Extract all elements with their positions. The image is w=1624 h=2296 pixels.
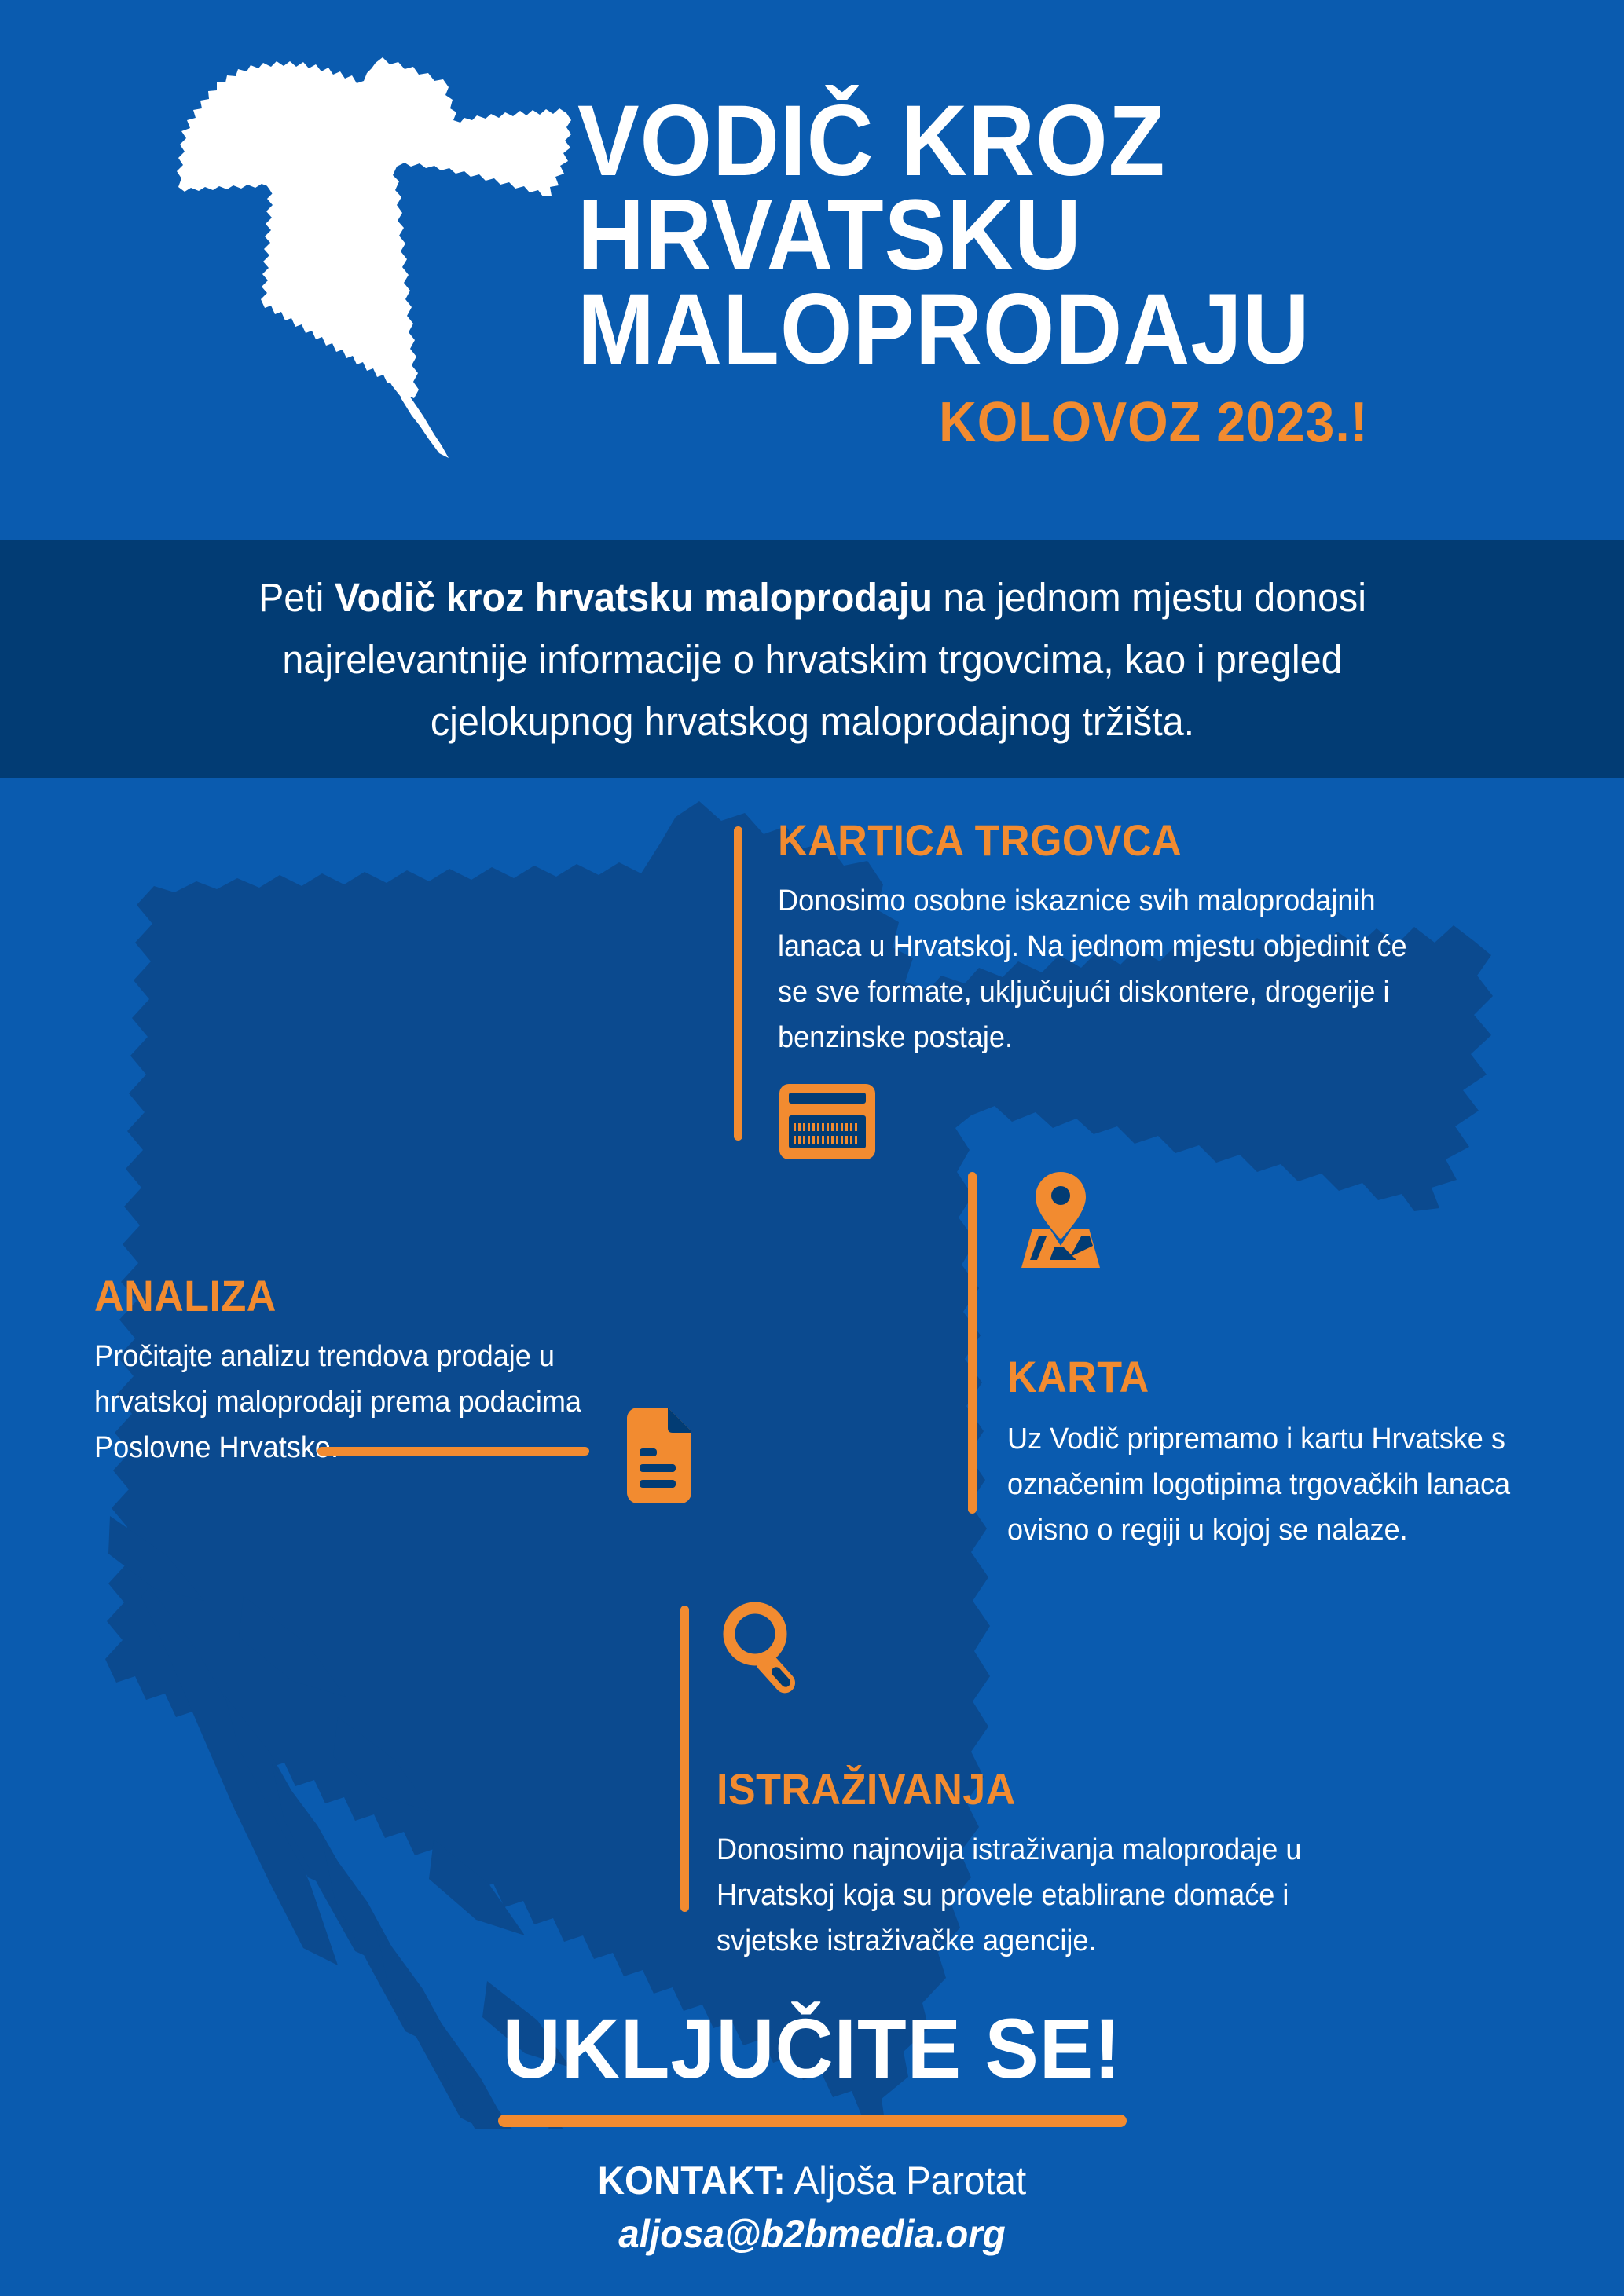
istrazivanja-body: Donosimo najnovija istraživanja maloprod…: [717, 1827, 1388, 1964]
call-to-action-heading: UKLJUČITE SE!: [41, 2003, 1584, 2094]
map-pin-icon: [1015, 1170, 1106, 1273]
infographic-poster: VODIČ KROZ HRVATSKU MALOPRODAJU KOLOVOZ …: [0, 0, 1624, 2296]
section-kartica-trgovca: KARTICA TRGOVCA Donosimo osobne iskaznic…: [778, 817, 1469, 1060]
contact-name: Aljoša Parotat: [786, 2159, 1026, 2203]
title-line-1: VODIČ KROZ: [577, 94, 1488, 189]
analiza-divider-line: [317, 1447, 589, 1456]
intro-bold-title: Vodič kroz hrvatsku maloprodaju: [334, 575, 932, 620]
karta-title: KARTA: [1007, 1353, 1563, 1401]
contact-line: KONTAKT: Aljoša Parotat: [41, 2154, 1584, 2207]
istrazivanja-divider-line: [680, 1606, 689, 1912]
magnifier-icon: [721, 1601, 814, 1701]
contact-email[interactable]: aljosa@b2bmedia.org: [41, 2207, 1584, 2261]
credit-card-icon: [776, 1081, 878, 1163]
document-icon: [619, 1404, 695, 1505]
cta-divider-rule: [498, 2115, 1127, 2127]
title-line-3: MALOPRODAJU: [577, 283, 1488, 377]
istrazivanja-title: ISTRAŽIVANJA: [717, 1766, 1374, 1813]
karta-body: Uz Vodič pripremamo i kartu Hrvatske s o…: [1007, 1416, 1575, 1553]
footer-section: UKLJUČITE SE! KONTAKT: Aljoša Parotat al…: [0, 2003, 1624, 2261]
poster-subtitle: KOLOVOZ 2023.!: [939, 391, 1517, 454]
section-istrazivanja: ISTRAŽIVANJA Donosimo najnovija istraživ…: [717, 1766, 1424, 1964]
croatia-map-silhouette-icon: [169, 43, 577, 460]
analiza-title: ANALIZA: [94, 1273, 621, 1320]
kartica-title: KARTICA TRGOVCA: [778, 817, 1421, 864]
contact-label: KONTAKT:: [598, 2159, 786, 2203]
section-karta: KARTA Uz Vodič pripremamo i kartu Hrvats…: [1007, 1353, 1604, 1553]
kartica-divider-line: [734, 826, 742, 1141]
kartica-body: Donosimo osobne iskaznice svih maloproda…: [778, 878, 1435, 1060]
header-section: VODIČ KROZ HRVATSKU MALOPRODAJU KOLOVOZ …: [0, 0, 1624, 540]
poster-title: VODIČ KROZ HRVATSKU MALOPRODAJU KOLOVOZ …: [577, 94, 1567, 454]
title-line-2: HRVATSKU: [577, 189, 1488, 283]
section-analiza: ANALIZA Pročitajte analizu trendova prod…: [94, 1273, 660, 1470]
intro-band: Peti Vodič kroz hrvatsku maloprodaju na …: [0, 540, 1624, 778]
intro-prefix: Peti: [258, 575, 334, 620]
karta-divider-line: [968, 1172, 977, 1514]
intro-paragraph: Peti Vodič kroz hrvatsku maloprodaju na …: [215, 566, 1410, 753]
